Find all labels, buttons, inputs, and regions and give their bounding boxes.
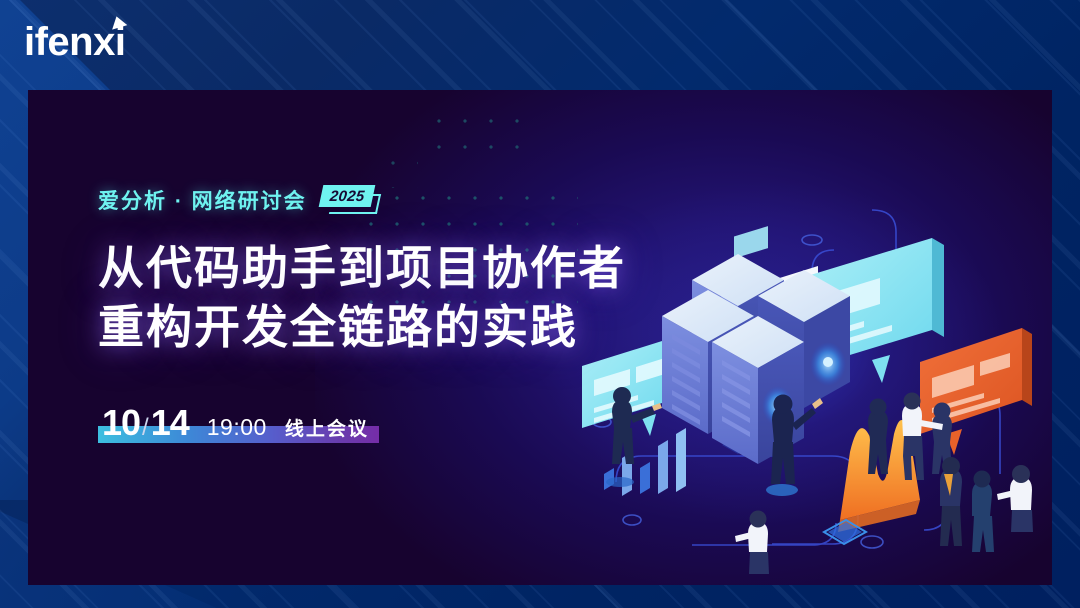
event-time: 19:00	[207, 414, 267, 441]
title-line-2: 重构开发全链路的实践	[98, 298, 626, 357]
title-line-1: 从代码助手到项目协作者	[98, 239, 626, 298]
event-info-inner: 10 / 14 19:00 线上会议	[102, 405, 369, 442]
event-date-separator: /	[142, 414, 149, 442]
brand-logo[interactable]: ifenxi	[24, 22, 125, 62]
content-panel: 爱分析 · 网络研讨会 2025 从代码助手到项目协作者 重构开发全链路的实践 …	[28, 90, 1052, 585]
event-mode: 线上会议	[285, 414, 369, 441]
event-month: 10	[102, 405, 140, 441]
webinar-poster: ifenxi	[0, 0, 1080, 608]
year-badge: 2025	[321, 185, 377, 215]
eyebrow-row: 爱分析 · 网络研讨会 2025	[98, 185, 626, 215]
illustration	[572, 90, 1052, 585]
year-badge-text: 2025	[328, 188, 364, 205]
eyebrow-label: 爱分析 · 网络研讨会	[98, 185, 307, 215]
poster-text-block: 爱分析 · 网络研讨会 2025 从代码助手到项目协作者 重构开发全链路的实践 …	[98, 185, 626, 442]
server-rack-cluster	[662, 254, 850, 464]
page-title: 从代码助手到项目协作者 重构开发全链路的实践	[98, 239, 626, 357]
dot-grid-pattern-small	[380, 150, 418, 188]
event-info-bar: 10 / 14 19:00 线上会议	[98, 405, 373, 442]
dot-grid-pattern-top	[426, 108, 536, 168]
logo-text: ifenxi	[24, 20, 125, 64]
logo-wordmark-wrap: ifenxi	[24, 22, 125, 62]
event-day: 14	[151, 405, 189, 441]
year-badge-fill: 2025	[318, 185, 375, 207]
